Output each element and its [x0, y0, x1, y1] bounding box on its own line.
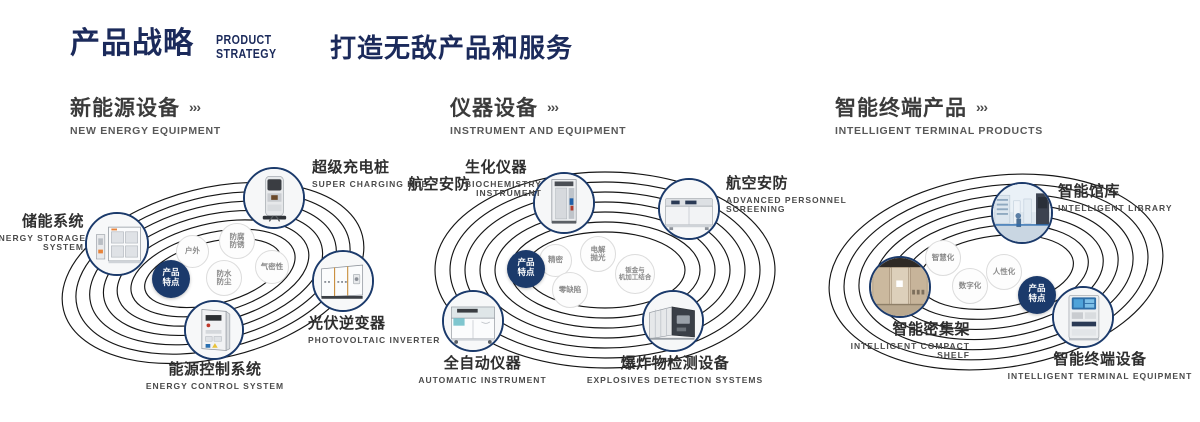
feature-bubble-waterproof: 防水防尘	[206, 260, 242, 296]
section-title-cn: 新能源设备	[70, 98, 180, 119]
energy-storage-cabinet-icon	[87, 214, 147, 274]
library-interior-icon	[993, 184, 1051, 242]
section-title-cn: 仪器设备	[450, 98, 538, 119]
feature-bubble-airtightness: 气密性	[255, 250, 289, 284]
feature-bubble-intelligence: 智慧化	[925, 240, 961, 276]
node-label-intelligent-library: 智能馆库 INTELLIGENT LIBRARY	[1058, 184, 1173, 213]
section-title-cn: 智能终端产品	[835, 98, 967, 119]
control-cabinet-icon	[186, 302, 242, 358]
compact-shelf-icon	[871, 258, 929, 316]
node-label-intelligent-terminal-equipment: 智能终端设备 INTELLIGENT TERMINAL EQUIPMENT	[1000, 352, 1200, 381]
feature-bubble-digitalization: 数字化	[952, 268, 988, 304]
node-super-charging-hub[interactable]	[243, 167, 305, 229]
node-advanced-personnel-screening[interactable]	[658, 178, 720, 240]
feature-bubble-humanization: 人性化	[986, 254, 1022, 290]
node-biochemistry-instrument[interactable]	[533, 172, 595, 234]
section-header-new-energy: 新能源设备››› NEW ENERGY EQUIPMENT	[70, 98, 221, 137]
section-title-en: NEW ENERGY EQUIPMENT	[70, 126, 221, 137]
chevron-right-triple-icon: ›››	[547, 99, 558, 115]
pv-inverter-icon	[314, 252, 372, 310]
feature-bubble-electropolishing: 电解抛光	[580, 236, 616, 272]
node-label-energy-control-system: 能源控制系统 ENERGY CONTROL SYSTEM	[110, 362, 320, 391]
biochemistry-scanner-icon	[535, 174, 593, 232]
node-label-biochemistry-instrument: 生化仪器 BIOCHEMISTRY INSTRUMENT	[465, 160, 542, 197]
section-header-instrument: 仪器设备››› INSTRUMENT AND EQUIPMENT	[450, 98, 626, 137]
feature-bubble-anticorrosion: 防腐防锈	[219, 223, 255, 259]
node-label-automatic-instrument: 全自动仪器 AUTOMATIC INSTRUMENT	[390, 356, 575, 385]
page-title-cn: 产品战略	[70, 29, 194, 59]
page-title-en: PRODUCT STRATEGY	[216, 33, 277, 61]
self-service-kiosk-icon	[1054, 288, 1112, 346]
explosives-detector-icon	[644, 292, 702, 350]
core-bubble-product-features: 产品特点	[1018, 276, 1056, 314]
node-intelligent-library[interactable]	[991, 182, 1053, 244]
diagram-intelligent-terminal: 智能馆库 INTELLIGENT LIBRARY 智能密集架 INTELLIGE…	[800, 150, 1200, 402]
feature-bubble-zero-defect: 零缺陷	[552, 272, 588, 308]
node-automatic-instrument[interactable]	[442, 290, 504, 352]
page-header: 产品战略 PRODUCT STRATEGY 打造无敌产品和服务	[0, 0, 1200, 88]
page-title-en-line1: PRODUCT	[216, 33, 277, 47]
node-photovoltaic-inverter[interactable]	[312, 250, 374, 312]
node-label-explosives-detection-systems: 爆炸物检测设备 EXPLOSIVES DETECTION SYSTEMS	[580, 356, 770, 385]
core-bubble-product-features: 产品特点	[152, 260, 190, 298]
section-header-intelligent-terminal: 智能终端产品››› INTELLIGENT TERMINAL PRODUCTS	[835, 98, 1043, 137]
node-explosives-detection-systems[interactable]	[642, 290, 704, 352]
screening-machine-icon	[660, 180, 718, 238]
automatic-analyzer-icon	[444, 292, 502, 350]
page-title-en-line2: STRATEGY	[216, 47, 277, 61]
aside-label-aviation-security: 航空安防	[408, 177, 470, 192]
diagram-instrument: 航空安防 生化仪器 BIOCHEMISTRY INSTRUMENT	[400, 150, 820, 400]
section-title-en: INTELLIGENT TERMINAL PRODUCTS	[835, 126, 1043, 137]
node-label-intelligent-compact-shelf: 智能密集架 INTELLIGENT COMPACT SHELF	[790, 322, 970, 359]
page-slogan: 打造无敌产品和服务	[330, 36, 573, 62]
node-intelligent-terminal-equipment[interactable]	[1052, 286, 1114, 348]
node-label-energy-storage-system: 储能系统 ENERGY STORAGE SYSTEM	[0, 214, 84, 251]
feature-bubble-sheetmetal-machining: 钣金与机加工结合	[615, 254, 655, 294]
core-bubble-product-features: 产品特点	[507, 250, 545, 288]
diagram-new-energy: 储能系统 ENERGY STORAGE SYSTEM 超级充电桩 SUPER C…	[0, 150, 420, 400]
section-title-en: INSTRUMENT AND EQUIPMENT	[450, 126, 626, 137]
node-energy-storage-system[interactable]	[85, 212, 149, 276]
node-energy-control-system[interactable]	[184, 300, 244, 360]
node-intelligent-compact-shelf[interactable]	[869, 256, 931, 318]
chevron-right-triple-icon: ›››	[189, 99, 200, 115]
chevron-right-triple-icon: ›››	[976, 99, 987, 115]
charging-pile-icon	[245, 169, 303, 227]
